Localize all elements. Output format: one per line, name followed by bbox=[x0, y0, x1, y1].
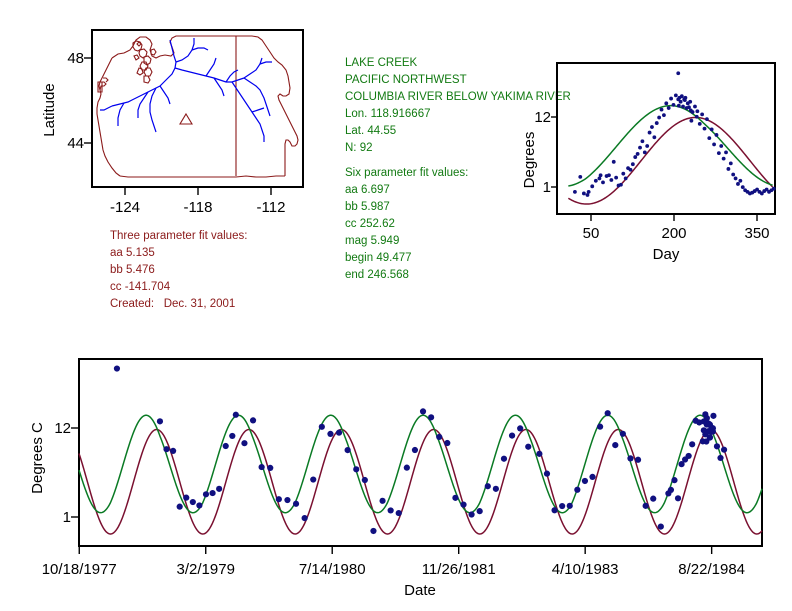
three-param-cc: cc -141.704 bbox=[110, 279, 340, 296]
seasonal-ylabel: Degrees bbox=[521, 132, 538, 189]
main-data-point bbox=[327, 431, 333, 437]
seasonal-data-points bbox=[573, 71, 776, 197]
seasonal-data-point bbox=[624, 177, 628, 181]
seasonal-data-point bbox=[619, 183, 623, 187]
main-xlabel: Date bbox=[404, 582, 436, 599]
main-data-point bbox=[293, 501, 299, 507]
seasonal-data-point bbox=[643, 150, 647, 154]
main-xtick-label: 11/26/1981 bbox=[422, 561, 496, 578]
main-data-point bbox=[544, 471, 550, 477]
seasonal-data-point bbox=[677, 104, 681, 108]
three-parameter-info-block: Three parameter fit values: aa 5.135 bb … bbox=[110, 228, 340, 313]
main-data-point bbox=[567, 503, 573, 509]
main-data-point bbox=[605, 410, 611, 416]
main-data-point bbox=[276, 496, 282, 502]
main-data-point bbox=[627, 455, 633, 461]
map-panel: Latitude 48 44 -124 -118 -112 bbox=[0, 0, 330, 215]
main-data-point bbox=[675, 495, 681, 501]
six-param-end: end 246.568 bbox=[345, 267, 560, 284]
seasonal-data-point bbox=[695, 109, 699, 113]
main-data-point bbox=[582, 478, 588, 484]
main-data-point bbox=[436, 434, 442, 440]
main-data-point bbox=[589, 474, 595, 480]
main-data-point bbox=[721, 447, 727, 453]
seasonal-data-point bbox=[689, 119, 693, 123]
seasonal-data-point bbox=[631, 162, 635, 166]
site-triangle-icon bbox=[180, 114, 192, 124]
main-data-point bbox=[559, 503, 565, 509]
main-data-point bbox=[686, 453, 692, 459]
seasonal-data-point bbox=[672, 103, 676, 107]
three-parameter-curve bbox=[568, 117, 772, 204]
seasonal-plot: Degrees 12 1 50 200 350 Day bbox=[505, 40, 792, 265]
main-xtick-label: 3/2/1979 bbox=[177, 561, 235, 578]
seasonal-data-point bbox=[695, 115, 699, 119]
main-xtick-group: 10/18/19773/2/19797/14/198011/26/19814/1… bbox=[42, 546, 745, 578]
seasonal-data-point bbox=[587, 190, 591, 194]
seasonal-data-point bbox=[741, 185, 745, 189]
seasonal-data-point bbox=[609, 178, 613, 182]
seasonal-data-point bbox=[674, 94, 678, 98]
main-data-point bbox=[163, 446, 169, 452]
state-boundaries bbox=[97, 36, 298, 177]
main-ytick-1: 1 bbox=[63, 509, 71, 526]
seasonal-data-point bbox=[734, 177, 738, 181]
main-data-point bbox=[259, 464, 265, 470]
main-data-point bbox=[250, 417, 256, 423]
main-data-point bbox=[707, 434, 713, 440]
main-data-point bbox=[267, 465, 273, 471]
main-data-point bbox=[635, 457, 641, 463]
main-data-point bbox=[336, 430, 342, 436]
seasonal-data-point bbox=[722, 157, 726, 161]
main-data-point bbox=[216, 486, 222, 492]
main-data-point bbox=[671, 477, 677, 483]
three-param-bb: bb 5.476 bbox=[110, 262, 340, 279]
main-data-point bbox=[597, 424, 603, 430]
map-xtick--124: -124 bbox=[110, 199, 140, 216]
seasonal-data-point bbox=[710, 128, 714, 132]
main-data-point bbox=[310, 476, 316, 482]
main-data-point bbox=[517, 425, 523, 431]
three-param-heading: Three parameter fit values: bbox=[110, 228, 340, 245]
seasonal-data-point bbox=[729, 162, 733, 166]
main-data-point bbox=[710, 425, 716, 431]
map-xtick--118: -118 bbox=[184, 199, 213, 216]
seasonal-xtick-50: 50 bbox=[583, 225, 600, 242]
seasonal-data-point bbox=[650, 125, 654, 129]
main-data-point bbox=[284, 497, 290, 503]
seasonal-data-point bbox=[705, 117, 709, 121]
main-data-point bbox=[183, 495, 189, 501]
seasonal-data-point bbox=[573, 190, 577, 194]
seasonal-data-point bbox=[636, 152, 640, 156]
seasonal-data-point bbox=[657, 116, 661, 120]
seasonal-data-point bbox=[578, 175, 582, 179]
main-data-point bbox=[710, 413, 716, 419]
main-data-point bbox=[362, 477, 368, 483]
seasonal-data-point bbox=[700, 112, 704, 116]
main-data-point bbox=[658, 524, 664, 530]
main-data-point bbox=[370, 528, 376, 534]
seasonal-data-point bbox=[601, 180, 605, 184]
main-data-point bbox=[114, 365, 120, 371]
created-date: Created: Dec. 31, 2001 bbox=[110, 296, 340, 313]
seasonal-data-point bbox=[736, 182, 740, 186]
seasonal-data-point bbox=[669, 97, 673, 101]
seasonal-data-point bbox=[645, 144, 649, 148]
seasonal-data-point bbox=[614, 176, 618, 180]
seasonal-data-point bbox=[724, 150, 728, 154]
seasonal-data-point bbox=[738, 179, 742, 183]
seasonal-data-point bbox=[594, 179, 598, 183]
main-data-point bbox=[379, 498, 385, 504]
main-data-point bbox=[525, 444, 531, 450]
main-data-point bbox=[420, 408, 426, 414]
main-data-point bbox=[223, 443, 229, 449]
main-ytick-12: 12 bbox=[54, 420, 71, 437]
seasonal-fit-curves bbox=[568, 106, 772, 204]
seasonal-data-point bbox=[772, 187, 776, 191]
map-xtick--112: -112 bbox=[257, 199, 286, 216]
main-data-point bbox=[469, 511, 475, 517]
main-data-point bbox=[704, 415, 710, 421]
main-ylabel: Degrees C bbox=[29, 422, 46, 494]
seasonal-data-point bbox=[681, 105, 685, 109]
main-data-point bbox=[717, 455, 723, 461]
seasonal-ytick-12: 12 bbox=[534, 109, 551, 126]
seasonal-data-point bbox=[731, 173, 735, 177]
seasonal-data-point bbox=[612, 160, 616, 164]
main-data-point bbox=[177, 504, 183, 510]
map-ytick-48: 48 bbox=[67, 50, 84, 67]
seasonal-data-point bbox=[621, 172, 625, 176]
main-data-point bbox=[714, 443, 720, 449]
seasonal-data-point bbox=[717, 151, 721, 155]
main-data-point bbox=[460, 502, 466, 508]
main-data-point bbox=[509, 432, 515, 438]
main-data-point bbox=[345, 447, 351, 453]
main-fit-curves bbox=[79, 415, 762, 534]
main-data-point bbox=[650, 496, 656, 502]
seasonal-data-point bbox=[590, 184, 594, 188]
main-frame bbox=[79, 359, 762, 546]
seasonal-data-point bbox=[715, 133, 719, 137]
main-data-point bbox=[396, 510, 402, 516]
six-parameter-curve bbox=[79, 415, 762, 512]
seasonal-xtick-350: 350 bbox=[744, 225, 769, 242]
three-parameter-curve bbox=[79, 430, 762, 534]
seasonal-data-point bbox=[698, 122, 702, 126]
seasonal-data-point bbox=[599, 173, 603, 177]
main-xtick-label: 8/22/1984 bbox=[678, 561, 745, 578]
six-parameter-curve bbox=[568, 106, 772, 186]
seasonal-xlabel: Day bbox=[653, 246, 680, 263]
seasonal-data-point bbox=[638, 146, 642, 150]
main-data-point bbox=[452, 495, 458, 501]
seasonal-data-point bbox=[719, 144, 723, 148]
main-data-point bbox=[388, 507, 394, 513]
main-data-point bbox=[501, 456, 507, 462]
main-data-point bbox=[170, 448, 176, 454]
main-data-point bbox=[353, 466, 359, 472]
seasonal-data-point bbox=[652, 135, 656, 139]
main-data-point bbox=[233, 412, 239, 418]
main-xtick-label: 4/10/1983 bbox=[552, 561, 619, 578]
seasonal-data-point bbox=[683, 98, 687, 102]
time-series-plot: Degrees C 12 1 10/18/19773/2/19797/14/19… bbox=[0, 330, 792, 611]
seasonal-data-point bbox=[633, 155, 637, 159]
seasonal-data-point bbox=[680, 94, 684, 98]
main-data-point bbox=[689, 441, 695, 447]
seasonal-ytick-1: 1 bbox=[543, 179, 551, 196]
main-data-point bbox=[229, 433, 235, 439]
main-data-point bbox=[157, 418, 163, 424]
seasonal-data-point bbox=[679, 100, 683, 104]
seasonal-xtick-200: 200 bbox=[661, 225, 686, 242]
main-data-point bbox=[404, 465, 410, 471]
main-data-point bbox=[428, 414, 434, 420]
main-data-point bbox=[302, 515, 308, 521]
seasonal-data-point bbox=[664, 101, 668, 105]
seasonal-data-point bbox=[676, 71, 680, 75]
main-data-point bbox=[209, 490, 215, 496]
main-data-point bbox=[668, 487, 674, 493]
seasonal-data-point bbox=[689, 109, 693, 113]
main-data-point bbox=[203, 491, 209, 497]
main-data-point bbox=[190, 499, 196, 505]
seasonal-data-point bbox=[667, 106, 671, 110]
main-data-point bbox=[493, 486, 499, 492]
main-data-point bbox=[412, 447, 418, 453]
seasonal-data-point bbox=[648, 131, 652, 135]
seasonal-data-point bbox=[727, 167, 731, 171]
seasonal-data-point bbox=[629, 168, 633, 172]
main-data-point bbox=[574, 487, 580, 493]
seasonal-data-point bbox=[703, 127, 707, 131]
seasonal-data-point bbox=[660, 108, 664, 112]
main-data-point bbox=[477, 508, 483, 514]
seasonal-data-point bbox=[707, 136, 711, 140]
main-data-point bbox=[241, 440, 247, 446]
main-data-point bbox=[612, 442, 618, 448]
seasonal-data-point bbox=[655, 121, 659, 125]
seasonal-data-point bbox=[641, 139, 645, 143]
three-param-aa: aa 5.135 bbox=[110, 245, 340, 262]
main-data-point bbox=[196, 502, 202, 508]
seasonal-data-point bbox=[607, 173, 611, 177]
main-data-point bbox=[643, 503, 649, 509]
seasonal-data-point bbox=[662, 113, 666, 117]
main-data-point bbox=[551, 507, 557, 513]
seasonal-data-point bbox=[688, 100, 692, 104]
seasonal-data-point bbox=[712, 143, 716, 147]
seasonal-data-point bbox=[582, 192, 586, 196]
map-ylabel: Latitude bbox=[41, 83, 58, 136]
rivers bbox=[100, 38, 272, 142]
seasonal-data-point bbox=[693, 105, 697, 109]
main-data-point bbox=[319, 424, 325, 430]
main-data-point bbox=[444, 440, 450, 446]
main-xtick-label: 10/18/1977 bbox=[42, 561, 117, 578]
main-xtick-label: 7/14/1980 bbox=[299, 561, 366, 578]
main-data-point bbox=[620, 431, 626, 437]
main-data-point bbox=[536, 451, 542, 457]
map-ytick-44: 44 bbox=[67, 135, 84, 152]
main-data-point bbox=[485, 483, 491, 489]
